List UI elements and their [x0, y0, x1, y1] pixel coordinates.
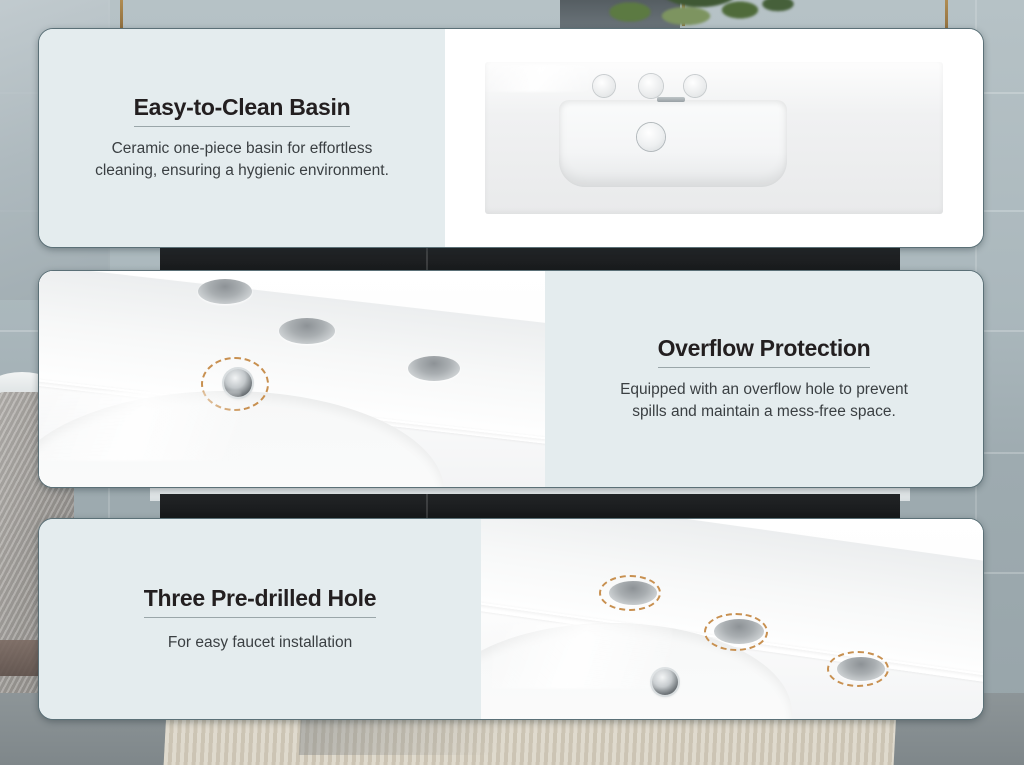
faucet-hole-left [198, 279, 252, 304]
basin-body [485, 62, 942, 215]
feature-title: Three Pre-drilled Hole [144, 585, 376, 618]
faucet-hole-right-highlight-ring-icon [827, 651, 889, 687]
feature-card-overflow-protection[interactable]: Overflow Protection Equipped with an ove… [38, 270, 984, 488]
feature-text-pane: Easy-to-Clean Basin Ceramic one-piece ba… [39, 29, 445, 247]
vanity-cabinet [160, 494, 900, 520]
feature-description: Equipped with an overflow hole to preven… [604, 379, 924, 423]
faucet-hole-center [639, 74, 663, 98]
pre-drilled-holes-closeup-photo [481, 519, 983, 719]
drain-hole [637, 123, 665, 151]
basin-top-view-photo [445, 29, 983, 247]
feature-title: Overflow Protection [658, 335, 871, 368]
feature-title: Easy-to-Clean Basin [134, 94, 351, 127]
pendant-rod [120, 0, 123, 30]
feature-text-pane: Overflow Protection Equipped with an ove… [545, 271, 983, 487]
basin-well [559, 100, 788, 187]
overflow-hole-closeup-photo [39, 271, 545, 487]
feature-card-three-pre-drilled-hole[interactable]: Three Pre-drilled Hole For easy faucet i… [38, 518, 984, 720]
feature-description: For easy faucet installation [168, 632, 352, 654]
faucet-hole-center-highlight-ring-icon [704, 613, 768, 651]
overflow-slit [657, 97, 685, 102]
faucet-hole-center [279, 318, 335, 344]
feature-description: Ceramic one-piece basin for effortless c… [94, 138, 390, 182]
basin-deck [481, 519, 983, 719]
feature-card-easy-to-clean-basin[interactable]: Easy-to-Clean Basin Ceramic one-piece ba… [38, 28, 984, 248]
faucet-hole-left-highlight-ring-icon [599, 575, 661, 611]
ceramic-sheen [485, 65, 595, 92]
feature-text-pane: Three Pre-drilled Hole For easy faucet i… [39, 519, 481, 719]
ceramic-sheen [39, 391, 241, 461]
basin-deck [39, 271, 545, 487]
infographic-scene: Easy-to-Clean Basin Ceramic one-piece ba… [0, 0, 1024, 765]
faucet-hole-right [408, 356, 460, 381]
faucet-hole-left [593, 75, 615, 97]
ceramic-sheen [491, 623, 672, 689]
faucet-hole-right [684, 75, 706, 97]
